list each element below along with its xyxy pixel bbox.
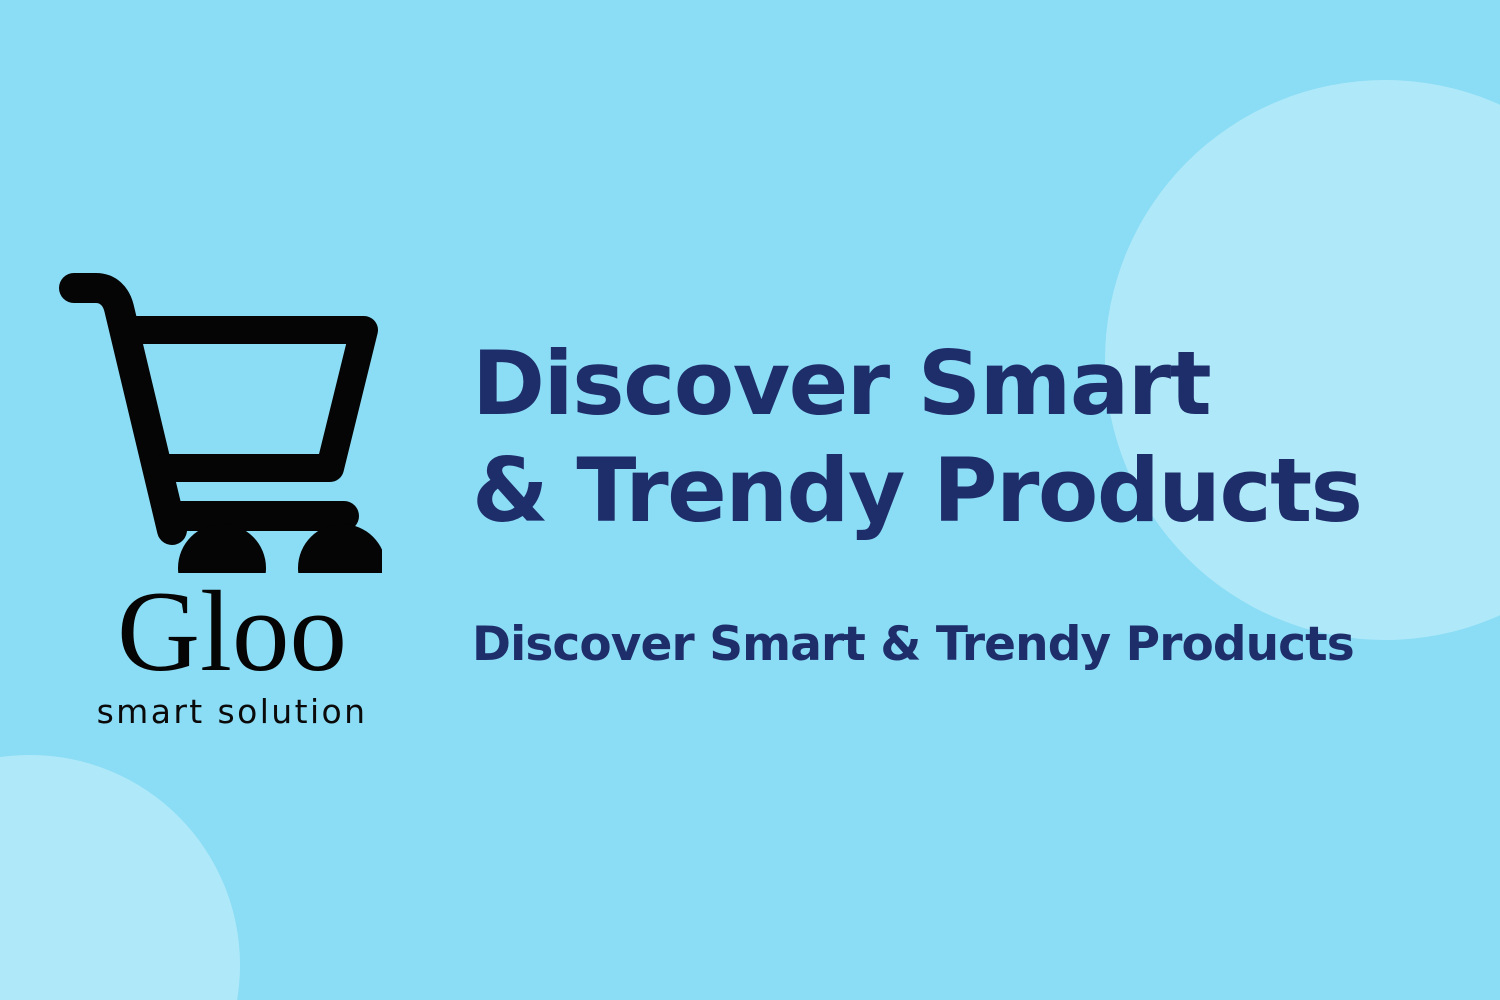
promo-banner: Gloo smart solution Discover Smart & Tre… (0, 0, 1500, 1000)
brand-wordmark: Gloo (72, 579, 392, 686)
shopping-cart-icon (52, 268, 382, 573)
headline-line-1: Discover Smart (472, 330, 1432, 437)
subheadline: Discover Smart & Trendy Products (472, 617, 1432, 673)
headline-line-2: & Trendy Products (472, 437, 1432, 544)
brand-logo: Gloo smart solution (52, 268, 392, 731)
hero-text-block: Discover Smart & Trendy Products Discove… (472, 330, 1432, 673)
background-circle-bottom-left-icon (0, 755, 240, 1000)
brand-tagline: smart solution (72, 692, 392, 731)
